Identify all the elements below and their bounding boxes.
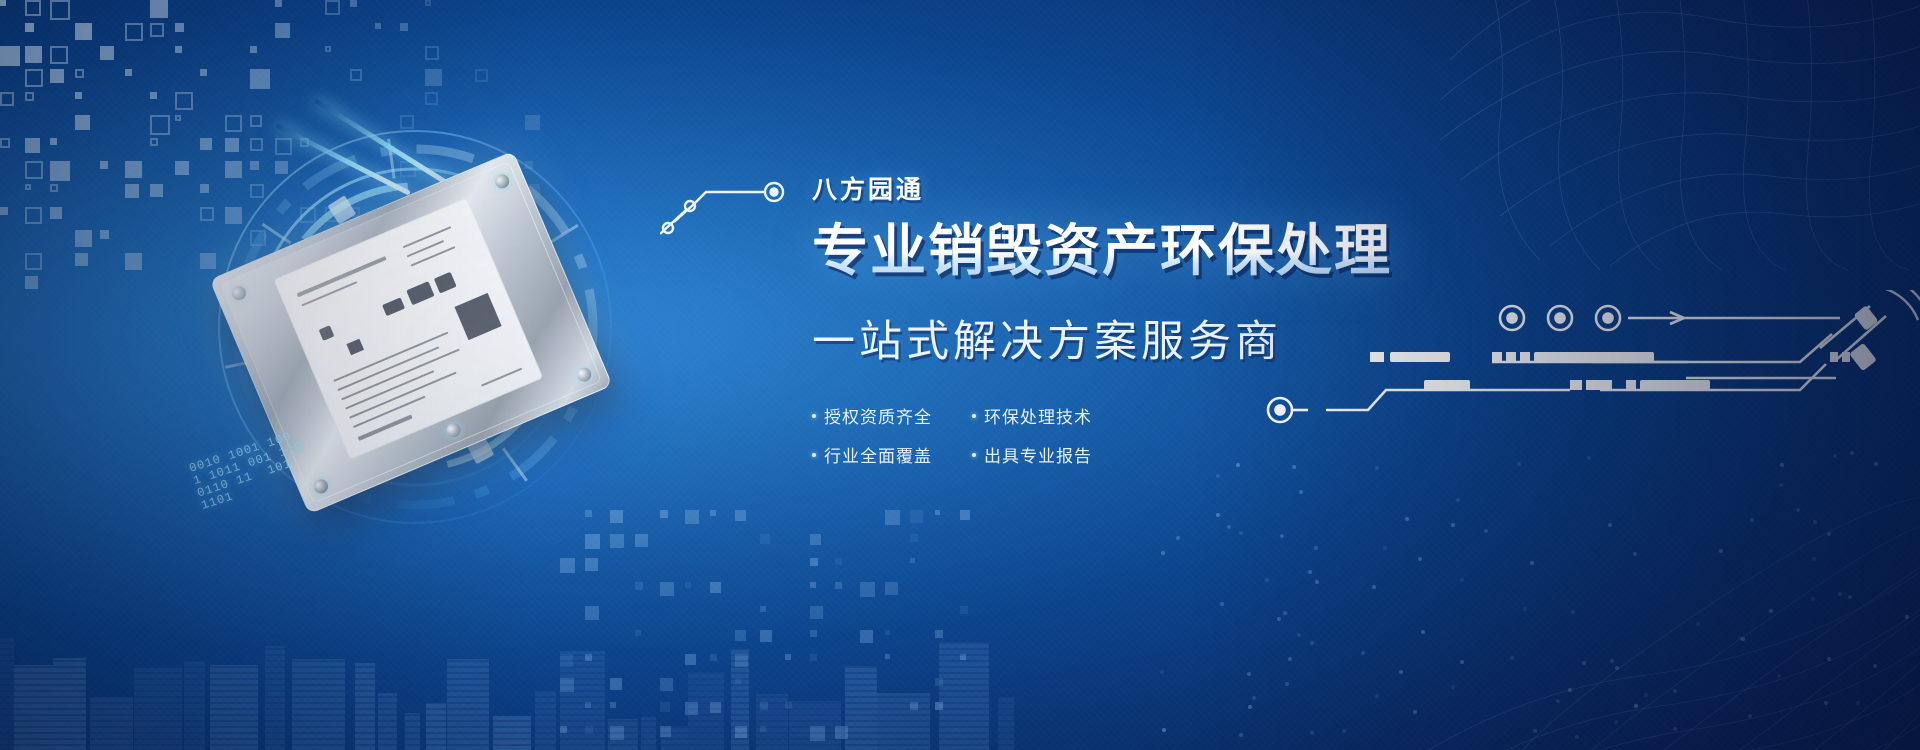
- feature-item-4: 出具专业报告: [972, 442, 1110, 467]
- promo-banner: 0010 1001 100 1 1011 001 110 0110 11 101…: [0, 0, 1920, 750]
- bullet-dot-icon: [812, 453, 816, 457]
- connector-line-left: [660, 170, 800, 240]
- dot-field-bottom-right: [1160, 450, 1920, 750]
- feature-item-2: 环保处理技术: [972, 403, 1110, 428]
- headline: 专业销毁资产环保处理: [812, 221, 1572, 280]
- feature-label: 出具专业报告: [984, 442, 1092, 467]
- bullet-dot-icon: [972, 453, 976, 457]
- hero-graphic: 0010 1001 100 1 1011 001 110 0110 11 101…: [150, 95, 710, 565]
- bullet-dot-icon: [812, 414, 816, 418]
- feature-label: 行业全面覆盖: [824, 442, 932, 467]
- subheadline: 一站式解决方案服务商: [812, 318, 1572, 367]
- feature-label: 授权资质齐全: [824, 403, 932, 428]
- copy-block: 八方园通 专业销毁资产环保处理 一站式解决方案服务商 授权资质齐全 环保处理技术…: [812, 178, 1572, 467]
- brand-eyebrow: 八方园通: [812, 178, 1572, 203]
- feature-item-3: 行业全面覆盖: [812, 442, 950, 467]
- hard-drive-label: [273, 198, 543, 460]
- feature-item-1: 授权资质齐全: [812, 403, 950, 428]
- city-skyline-silhouette: [0, 630, 1000, 750]
- bullet-dot-icon: [972, 414, 976, 418]
- feature-label: 环保处理技术: [984, 403, 1092, 428]
